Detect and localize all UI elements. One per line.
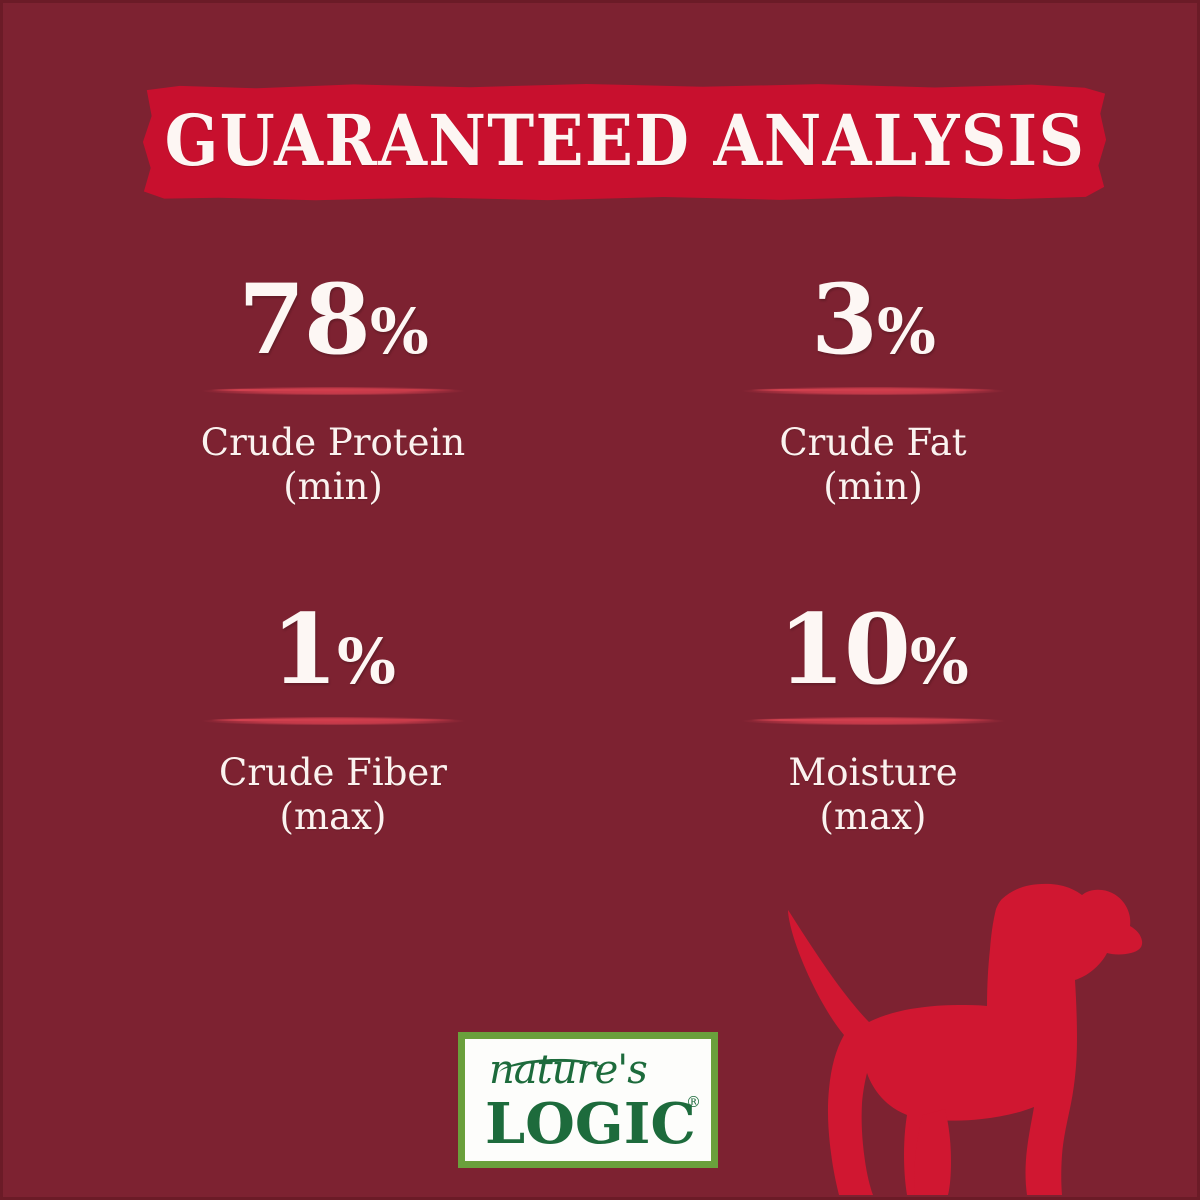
percent-sign: % [877, 295, 935, 368]
stat-value: 10% [778, 601, 968, 699]
stat-number: 1 [271, 593, 337, 706]
brush-divider [201, 717, 466, 725]
stat-qualifier: (min) [283, 465, 383, 509]
brush-divider [201, 387, 466, 395]
stat-number: 78 [238, 263, 370, 376]
dog-silhouette-icon [769, 877, 1149, 1197]
brand-logo-inner: nature's LOGIC ® [465, 1039, 711, 1161]
stat-number: 10 [778, 593, 910, 706]
stat-crude-fat: 3% Crude Fat (min) [603, 271, 1143, 601]
stat-label: Crude Fiber [219, 751, 447, 795]
guaranteed-analysis-poster: GUARANTEED ANALYSIS 78% Crude Protein (m… [0, 0, 1200, 1200]
guaranteed-analysis-grid: 78% Crude Protein (min) 3% Crude Fat (mi… [63, 271, 1143, 931]
stat-label: Moisture [788, 751, 957, 795]
percent-sign: % [337, 625, 395, 698]
brand-block-word: LOGIC [485, 1091, 696, 1157]
stat-qualifier: (max) [820, 795, 927, 839]
stat-crude-fiber: 1% Crude Fiber (max) [63, 601, 603, 931]
stat-label: Crude Fat [779, 421, 966, 465]
stat-label: Crude Protein [201, 421, 465, 465]
stat-value: 3% [811, 271, 935, 369]
percent-sign: % [910, 625, 968, 698]
percent-sign: % [370, 295, 428, 368]
brush-divider [741, 717, 1006, 725]
banner: GUARANTEED ANALYSIS [141, 83, 1109, 201]
registered-trademark-icon: ® [686, 1093, 701, 1111]
page-title: GUARANTEED ANALYSIS [189, 83, 1060, 201]
stat-qualifier: (min) [823, 465, 923, 509]
stat-value: 1% [271, 601, 395, 699]
brush-divider [741, 387, 1006, 395]
brand-logo: nature's LOGIC ® [458, 1032, 718, 1168]
stat-value: 78% [238, 271, 428, 369]
stat-crude-protein: 78% Crude Protein (min) [63, 271, 603, 601]
stat-qualifier: (max) [280, 795, 387, 839]
stat-number: 3 [811, 263, 877, 376]
